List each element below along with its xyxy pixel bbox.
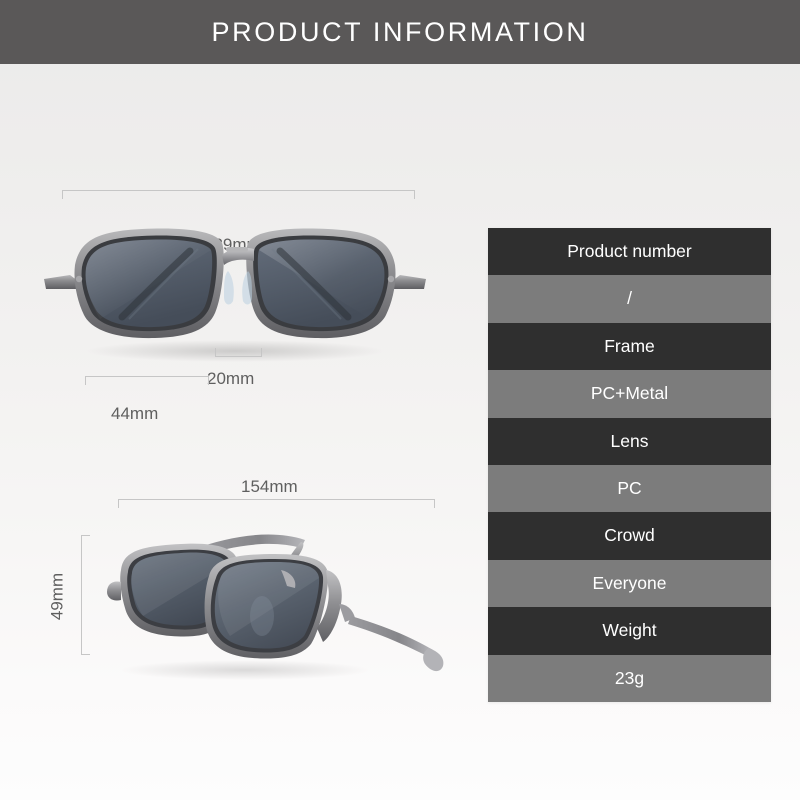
dimension-label-bridge-width: 20mm bbox=[207, 370, 254, 387]
table-row: Product number bbox=[488, 228, 771, 275]
page-header: PRODUCT INFORMATION bbox=[0, 0, 800, 64]
table-row: Everyone bbox=[488, 560, 771, 607]
table-row: 23g bbox=[488, 655, 771, 702]
table-row: PC bbox=[488, 465, 771, 512]
dimension-label-temple-length: 154mm bbox=[241, 478, 298, 495]
table-row: / bbox=[488, 275, 771, 322]
specification-table: Product number / Frame PC+Metal Lens PC … bbox=[488, 228, 771, 702]
table-row: Crowd bbox=[488, 512, 771, 559]
dimension-label-lens-width: 44mm bbox=[111, 405, 158, 422]
dimension-line-total-width bbox=[62, 190, 415, 199]
sunglasses-front-view-image bbox=[30, 209, 440, 369]
table-row: PC+Metal bbox=[488, 370, 771, 417]
product-information-page: PRODUCT INFORMATION 139mm bbox=[0, 0, 800, 800]
dimension-line-bridge-width bbox=[215, 348, 262, 357]
page-title: PRODUCT INFORMATION bbox=[212, 19, 589, 46]
table-row: Weight bbox=[488, 607, 771, 654]
sunglasses-angled-view-image bbox=[95, 504, 455, 694]
dimension-line-lens-height bbox=[81, 535, 90, 655]
table-row: Lens bbox=[488, 418, 771, 465]
product-images-panel: 139mm bbox=[0, 64, 470, 800]
dimension-line-lens-width bbox=[85, 376, 209, 385]
table-row: Frame bbox=[488, 323, 771, 370]
dimension-label-lens-height: 49mm bbox=[49, 567, 66, 627]
